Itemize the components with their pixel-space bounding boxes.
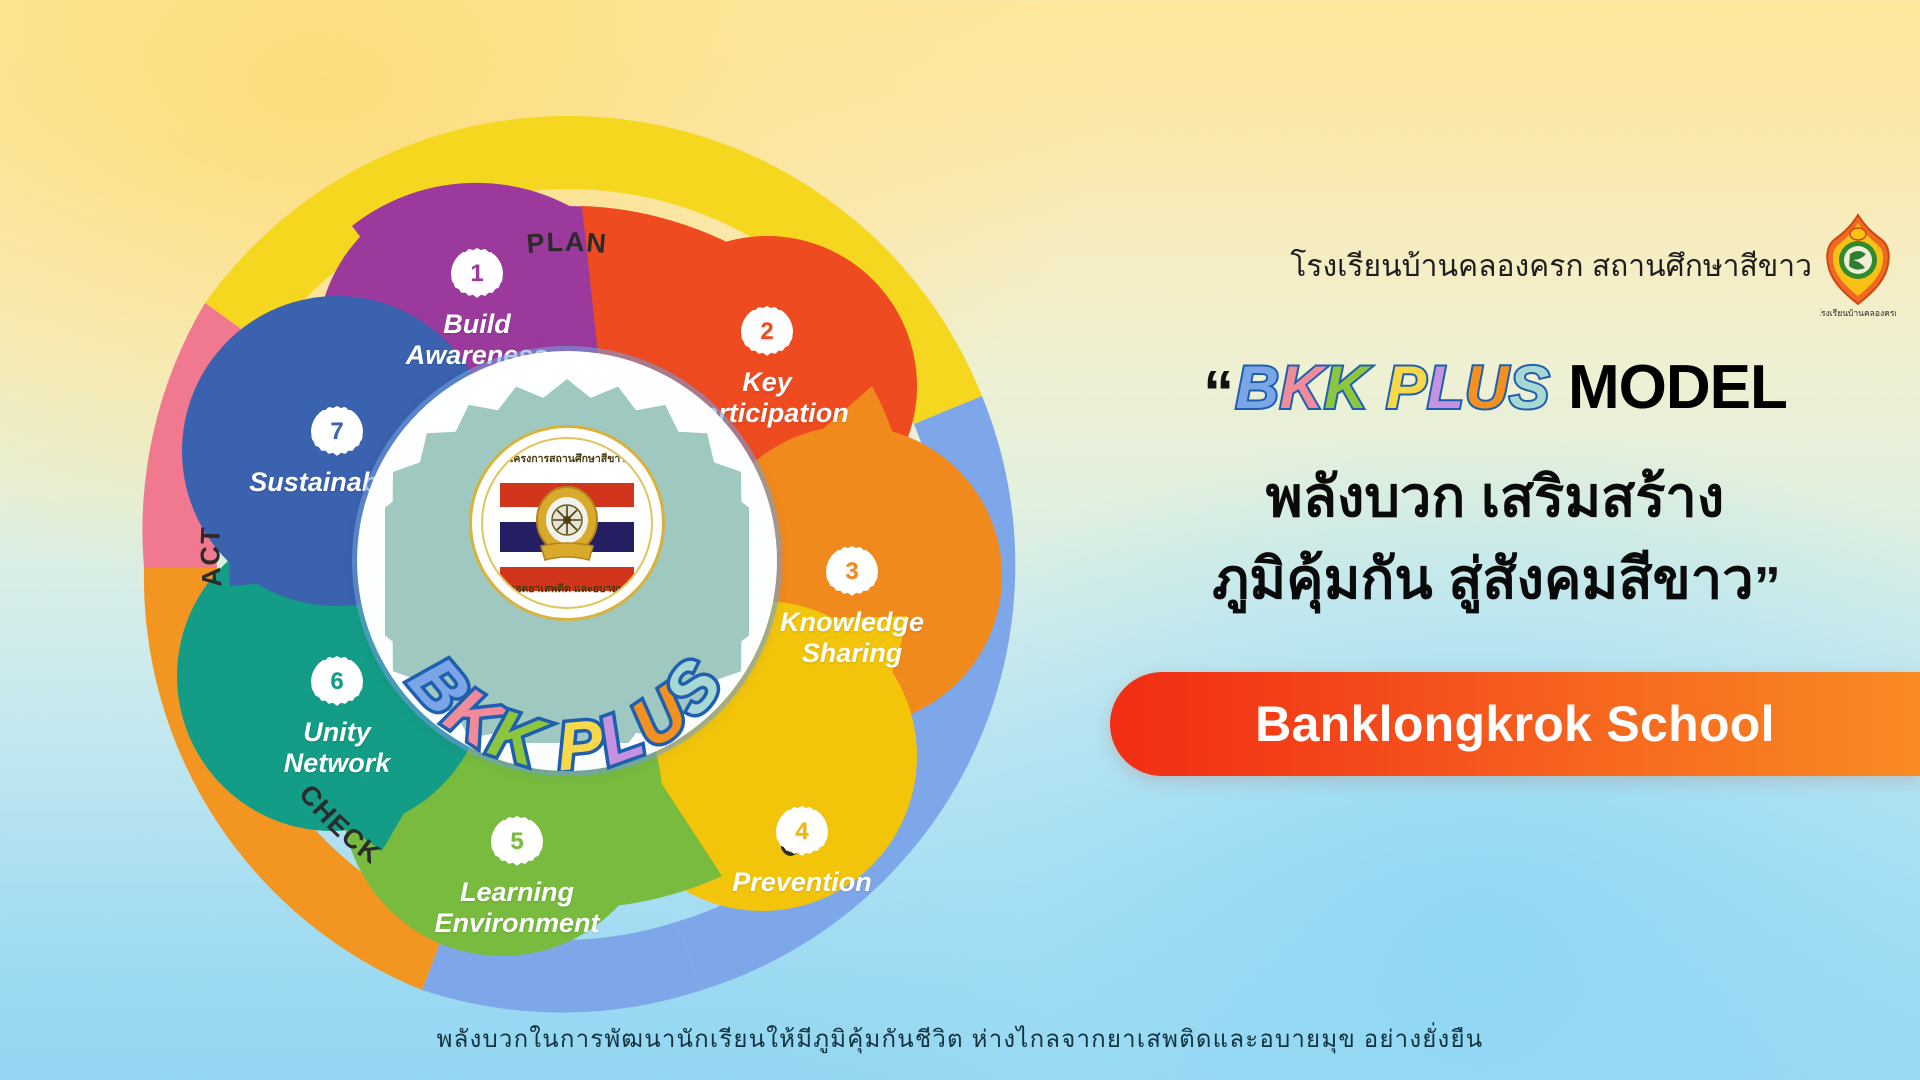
bottom-caption: พลังบวกในการพัฒนานักเรียนให้มีภูมิคุ้มกั…	[0, 1019, 1920, 1058]
school-name-line: โรงเรียนบ้านคลองครก สถานศึกษาสีขาว	[1290, 243, 1812, 290]
title-line3-text: ภูมิคุ้มกัน สู่สังคมสีขาว	[1212, 547, 1753, 610]
bkk-plus-wordmark: BKK PLUS	[357, 527, 777, 771]
school-name-banner[interactable]: Banklongkrok School	[1110, 672, 1920, 776]
seal-arc-top-text: โครงการสถานศึกษาสีขาว	[483, 450, 651, 467]
pdca-wheel-diagram: PLAN DO CHECK ACT 1 Build Awareness 2 Ke…	[62, 56, 1072, 1066]
main-title-line2: พลังบวก เสริมสร้าง	[1090, 452, 1900, 541]
quote-close: ”	[1754, 556, 1778, 616]
ring-label-act: ACT	[195, 525, 227, 588]
cta-label: Banklongkrok School	[1255, 695, 1775, 753]
svg-text:BKK PLUS: BKK PLUS	[395, 643, 739, 771]
right-content-panel: โรงเรียนบ้านคลองครก สถานศึกษาสีขาว โรงเร…	[1090, 0, 1920, 1080]
main-title-line3: ภูมิคุ้มกัน สู่สังคมสีขาว”	[1090, 534, 1900, 623]
ring-label-plan: PLAN	[525, 227, 608, 259]
model-word: MODEL	[1568, 353, 1787, 422]
main-title-line1: “ BKK PLUS MODEL	[1090, 352, 1900, 434]
svg-text:โรงเรียนบ้านคลองครก: โรงเรียนบ้านคลองครก	[1820, 308, 1896, 318]
school-crest-icon: โรงเรียนบ้านคลองครก	[1820, 212, 1896, 324]
quote-open: “	[1203, 359, 1231, 428]
brand-wordmark: BKK PLUS	[1236, 354, 1568, 421]
center-emblem: โครงการสถานศึกษาสีขาว ปลอดยาเสพติด และอบ…	[357, 351, 777, 771]
